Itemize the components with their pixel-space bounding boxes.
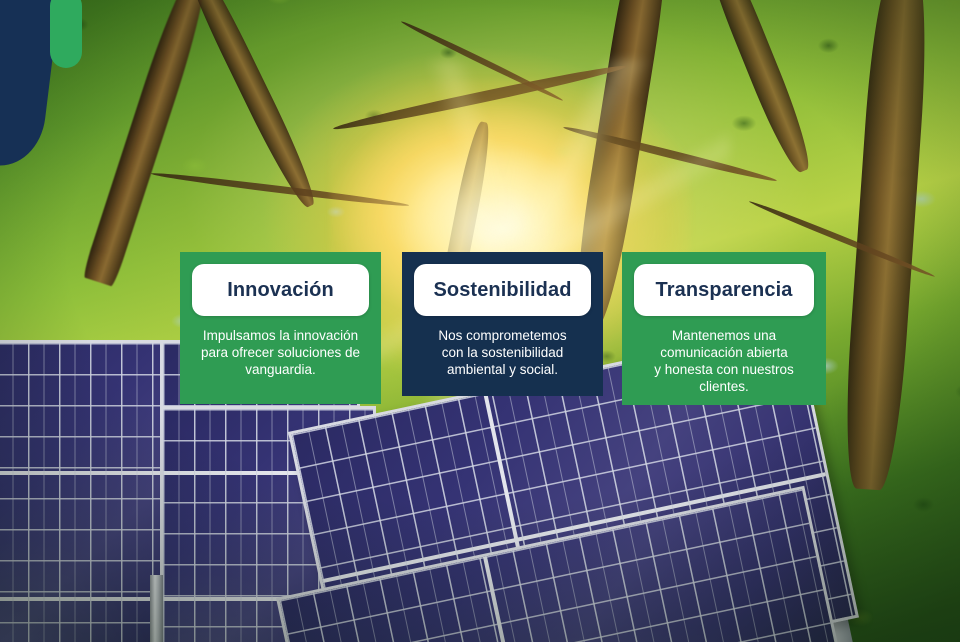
value-card-title-pill: Sostenibilidad (414, 264, 591, 316)
value-card-innovacion[interactable]: Innovación Impulsamos la innovación para… (180, 252, 381, 404)
value-card-transparencia[interactable]: Transparencia Mantenemos una comunicació… (622, 252, 826, 405)
value-card-title-pill: Transparencia (634, 264, 814, 316)
value-cards-row: Innovación Impulsamos la innovación para… (0, 0, 960, 642)
slide-canvas: Innovación Impulsamos la innovación para… (0, 0, 960, 642)
value-card-body: Impulsamos la innovación para ofrecer so… (192, 327, 369, 378)
value-card-title: Transparencia (656, 279, 793, 302)
value-card-title-pill: Innovación (192, 264, 369, 316)
value-card-sostenibilidad[interactable]: Sostenibilidad Nos comprometemos con la … (402, 252, 603, 396)
value-card-title: Sostenibilidad (433, 279, 571, 302)
value-card-title: Innovación (227, 279, 334, 302)
value-card-body: Nos comprometemos con la sostenibilidad … (414, 327, 591, 378)
value-card-body: Mantenemos una comunicación abierta y ho… (634, 327, 814, 395)
